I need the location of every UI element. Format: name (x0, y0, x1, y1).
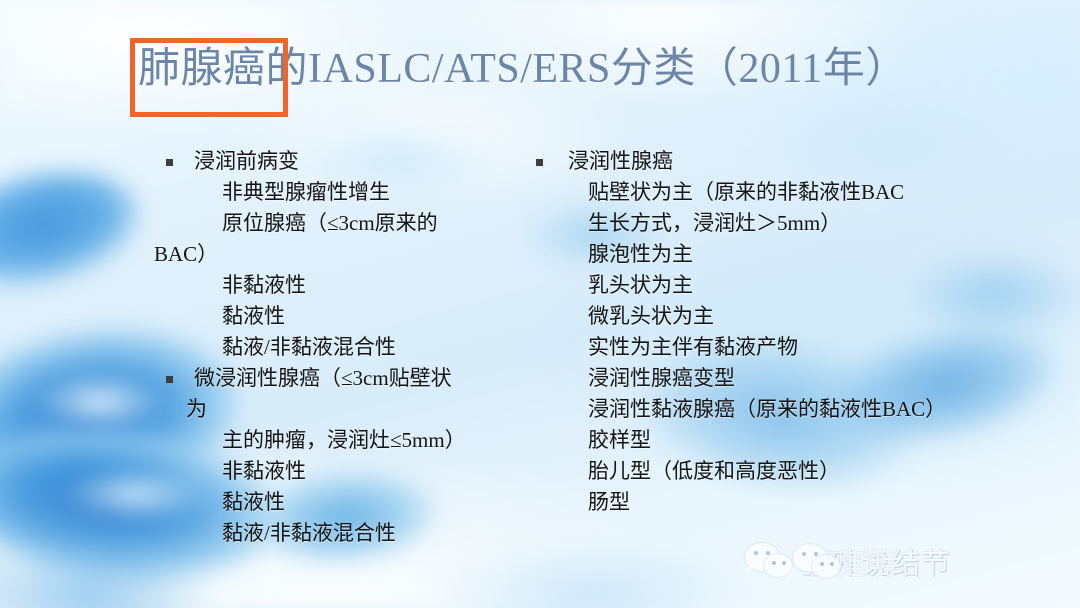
list-item: 实性为主伴有黏液产物 (528, 332, 998, 363)
list-item-label: 贴壁状为主（原来的非黏液性BAC (528, 177, 904, 208)
list-item-label: 黏液/非黏液混合性 (148, 332, 396, 363)
list-item-wrap: BAC） (148, 239, 508, 270)
list-item: 生长方式，浸润灶＞5mm） (528, 208, 998, 239)
list-item: 黏液性 (148, 487, 508, 518)
list-item: 黏液/非黏液混合性 (148, 332, 508, 363)
square-bullet-icon (166, 159, 173, 166)
list-item-label: 黏液性 (148, 487, 285, 518)
list-item: 浸润前病变 (148, 146, 508, 177)
list-item: 原位腺癌（≤3cm原来的 (148, 208, 508, 239)
list-item: 贴壁状为主（原来的非黏液性BAC (528, 177, 998, 208)
list-item-label: 浸润性腺癌 (528, 146, 673, 177)
list-item: 非黏液性 (148, 270, 508, 301)
list-item-label: 实性为主伴有黏液产物 (528, 332, 798, 363)
list-item: 浸润性黏液腺癌（原来的黏液性BAC） (528, 394, 998, 425)
list-item: 肠型 (528, 487, 998, 518)
right-content-column: 浸润性腺癌 贴壁状为主（原来的非黏液性BAC 生长方式，浸润灶＞5mm） 腺泡性… (528, 146, 998, 518)
list-item: 黏液性 (148, 301, 508, 332)
list-item-label: 为 (148, 394, 207, 425)
list-item-label: 生长方式，浸润灶＞5mm） (528, 208, 841, 239)
wechat-watermark: 金叶说结节 健建明 (745, 536, 951, 586)
list-item: 浸润性腺癌 (528, 146, 998, 177)
list-item-label: 肠型 (528, 487, 630, 518)
list-item-label: 非黏液性 (148, 270, 306, 301)
list-item: 黏液/非黏液混合性 (148, 518, 508, 549)
list-item: 非典型腺瘤性增生 (148, 177, 508, 208)
title-highlight-box (130, 38, 288, 117)
list-item: 腺泡性为主 (528, 239, 998, 270)
list-item-label: 非黏液性 (148, 456, 306, 487)
list-item-label: BAC） (148, 239, 218, 270)
list-item: 微乳头状为主 (528, 301, 998, 332)
list-item-label: 非典型腺瘤性增生 (148, 177, 390, 208)
list-item: 微浸润性腺癌（≤3cm贴壁状 (148, 363, 508, 394)
list-item: 浸润性腺癌变型 (528, 363, 998, 394)
list-item-label: 腺泡性为主 (528, 239, 693, 270)
square-bullet-icon (166, 376, 173, 383)
wechat-logo-icon (745, 539, 797, 583)
list-item-label: 浸润性黏液腺癌（原来的黏液性BAC） (528, 394, 946, 425)
list-item-label: 微浸润性腺癌（≤3cm贴壁状 (148, 363, 452, 394)
list-item-label: 浸润性腺癌变型 (528, 363, 735, 394)
list-item-label: 主的肿瘤，浸润灶≤5mm） (148, 425, 466, 456)
list-item: 主的肿瘤，浸润灶≤5mm） (148, 425, 508, 456)
title-remainder: 的IASLC/ATS/ERS分类（2011年） (266, 46, 908, 92)
list-item: 乳头状为主 (528, 270, 998, 301)
list-item-label: 微乳头状为主 (528, 301, 714, 332)
list-item: 胶样型 (528, 425, 998, 456)
square-bullet-icon (536, 159, 543, 166)
list-item-label: 原位腺癌（≤3cm原来的 (148, 208, 438, 239)
list-item-label: 黏液性 (148, 301, 285, 332)
left-content-column: 浸润前病变 非典型腺瘤性增生 原位腺癌（≤3cm原来的 BAC） 非黏液性 黏液… (148, 146, 508, 549)
list-item: 胎儿型（低度和高度恶性） (528, 456, 998, 487)
list-item-label: 胶样型 (528, 425, 651, 456)
list-item-label: 乳头状为主 (528, 270, 693, 301)
list-item: 非黏液性 (148, 456, 508, 487)
list-item-label: 黏液/非黏液混合性 (148, 518, 396, 549)
list-item-wrap: 为 (148, 394, 508, 425)
wechat-logo-icon-secondary (793, 540, 845, 584)
slide-canvas: 肺腺癌的IASLC/ATS/ERS分类（2011年） 浸润前病变 非典型腺瘤性增… (0, 0, 1080, 608)
list-item-label: 胎儿型（低度和高度恶性） (528, 456, 840, 487)
